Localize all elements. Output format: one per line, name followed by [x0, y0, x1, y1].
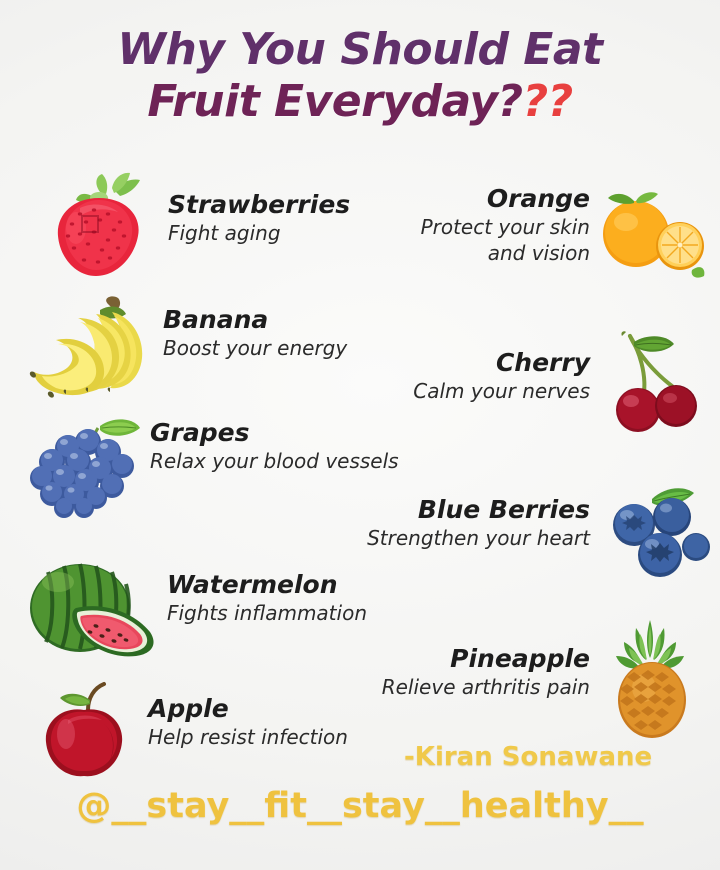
title-line-1: Why You Should Eat	[0, 24, 720, 76]
fruit-benefit-orange-line1: Protect your skin	[330, 214, 590, 240]
fruit-benefit-watermelon: Fights inflammation	[167, 600, 427, 626]
fruit-name-apple: Apple	[148, 694, 408, 724]
fruit-name-watermelon: Watermelon	[167, 570, 427, 600]
grapes-image	[22, 412, 148, 522]
entry-pineapple: Pineapple Relieve arthritis pain	[330, 644, 590, 700]
banana-image	[26, 292, 154, 404]
entry-orange: Orange Protect your skin and vision	[330, 184, 590, 266]
cherry-image	[596, 330, 708, 440]
entry-grapes: Grapes Relax your blood vessels	[150, 418, 440, 474]
infographic-poster: Why You Should Eat Fruit Everyday???	[0, 0, 720, 870]
entry-cherry: Cherry Calm your nerves	[340, 348, 590, 404]
apple-image	[32, 680, 142, 784]
watermelon-image	[18, 556, 168, 666]
social-handle: @__stay__fit__stay__healthy__	[0, 786, 720, 826]
fruit-benefit-orange-line2: and vision	[330, 240, 590, 266]
fruit-name-blueberries: Blue Berries	[320, 495, 590, 525]
fruit-benefit-apple: Help resist infection	[148, 724, 408, 750]
fruit-name-grapes: Grapes	[150, 418, 440, 448]
pineapple-image	[600, 612, 706, 738]
fruit-name-banana: Banana	[163, 305, 423, 335]
fruit-name-pineapple: Pineapple	[330, 644, 590, 674]
fruit-name-orange: Orange	[330, 184, 590, 214]
fruit-benefit-cherry: Calm your nerves	[340, 378, 590, 404]
byline-author: -Kiran Sonawane	[404, 742, 652, 772]
fruit-name-cherry: Cherry	[340, 348, 590, 378]
title-line-2-text: Fruit Everyday?	[147, 76, 522, 127]
fruit-benefit-blueberries: Strengthen your heart	[320, 525, 590, 551]
entry-watermelon: Watermelon Fights inflammation	[167, 570, 427, 626]
blueberries-image	[600, 485, 710, 585]
title-question-marks: ??	[523, 76, 573, 127]
entry-blueberries: Blue Berries Strengthen your heart	[320, 495, 590, 551]
entry-apple: Apple Help resist infection	[148, 694, 408, 750]
page-title: Why You Should Eat Fruit Everyday???	[0, 24, 720, 128]
fruit-benefit-grapes: Relax your blood vessels	[150, 448, 440, 474]
title-line-2: Fruit Everyday???	[0, 76, 720, 128]
orange-image	[596, 188, 706, 284]
strawberry-image	[40, 172, 158, 284]
